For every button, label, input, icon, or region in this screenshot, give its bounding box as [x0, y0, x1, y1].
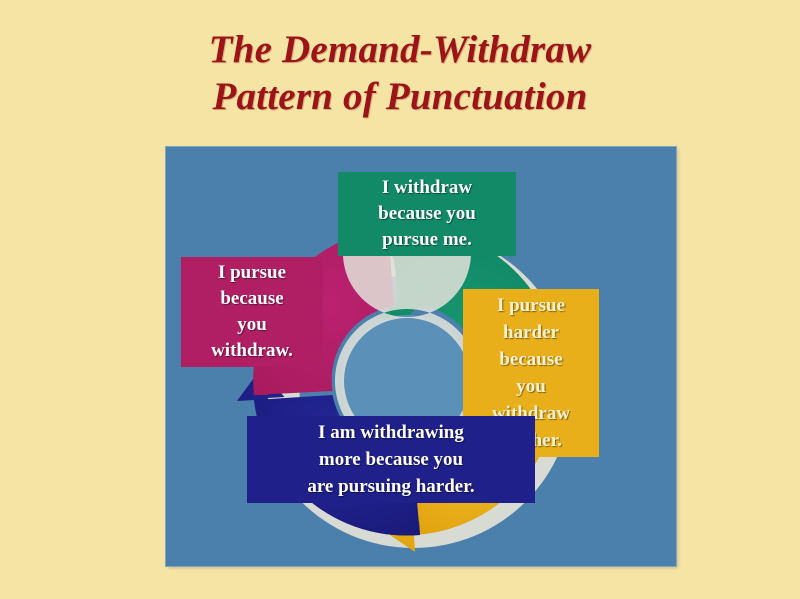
title-line-2: Pattern of Punctuation: [0, 73, 800, 120]
label-line: I pursue: [468, 292, 594, 319]
segment-label-withdraw: I withdraw because you pursue me.: [338, 172, 516, 256]
title-line-1: The Demand-Withdraw: [0, 26, 800, 73]
label-line: because you: [343, 201, 511, 227]
label-line: withdraw.: [186, 338, 318, 364]
segment-label-withdrawing-more: I am withdrawing more because you are pu…: [247, 416, 535, 503]
label-line: because: [186, 286, 318, 312]
label-line: you: [468, 373, 594, 400]
cycle-diagram: I withdraw because you pursue me. I purs…: [166, 147, 676, 566]
label-line: because: [468, 346, 594, 373]
label-line: pursue me.: [343, 227, 511, 253]
label-line: more because you: [252, 446, 530, 473]
label-line: I withdraw: [343, 175, 511, 201]
label-line: harder: [468, 319, 594, 346]
page-title: The Demand-Withdraw Pattern of Punctuati…: [0, 26, 800, 120]
label-line: you: [186, 312, 318, 338]
label-line: I pursue: [186, 260, 318, 286]
diagram-panel: I withdraw because you pursue me. I purs…: [166, 147, 676, 566]
label-line: I am withdrawing: [252, 419, 530, 446]
slide: The Demand-Withdraw Pattern of Punctuati…: [0, 0, 800, 599]
segment-label-pursue: I pursue because you withdraw.: [181, 257, 323, 367]
label-line: are pursuing harder.: [252, 473, 530, 500]
